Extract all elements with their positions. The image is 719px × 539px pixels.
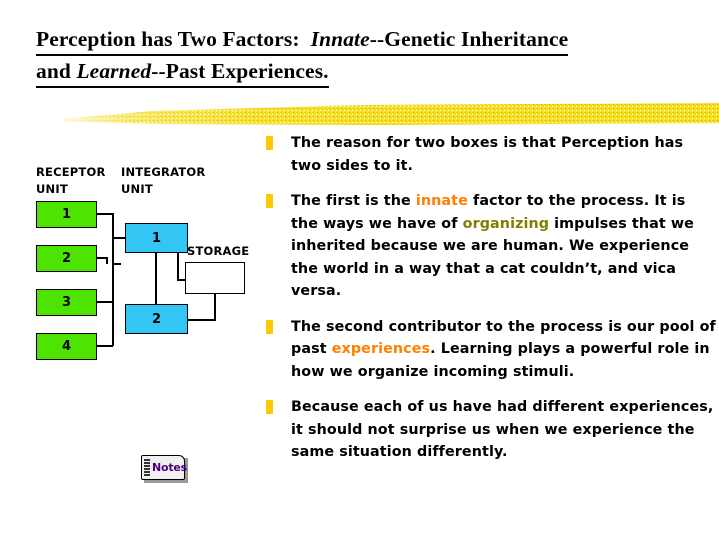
integrator-node-2[interactable]: 2 xyxy=(125,304,188,334)
bullet-text: The second contributor to the process is… xyxy=(291,316,716,384)
page-title: Perception has Two Factors: Innate--Gene… xyxy=(36,26,676,88)
page-title-line-1-prefix: Perception has Two Factors: xyxy=(36,27,311,51)
list-item: The second contributor to the process is… xyxy=(266,316,716,384)
page-title-learned-italic: Learned xyxy=(76,59,151,83)
bullet-text-run: The reason for two boxes is that Percept… xyxy=(291,135,683,174)
slide-canvas: Perception has Two Factors: Innate--Gene… xyxy=(0,0,719,539)
notepad-ring-icon xyxy=(144,465,150,467)
bullet-list: The reason for two boxes is that Percept… xyxy=(266,132,716,477)
bullet-text-run: The first is the xyxy=(291,193,416,209)
page-title-line-2: and Learned--Past Experiences. xyxy=(36,58,329,88)
integrator-node-1[interactable]: 1 xyxy=(125,223,188,253)
notes-button-face: Notes xyxy=(141,455,185,480)
notepad-ring-icon xyxy=(144,462,150,464)
bullet-marker-icon xyxy=(266,320,273,334)
list-item: Because each of us have had different ex… xyxy=(266,396,716,464)
decorative-ribbon xyxy=(62,101,719,127)
page-title-line-1: Perception has Two Factors: Innate--Gene… xyxy=(36,26,568,56)
bullet-marker-icon xyxy=(266,194,273,208)
notepad-ring-icon xyxy=(144,474,150,476)
notepad-ring-icon xyxy=(144,459,150,461)
bullet-marker-icon xyxy=(266,400,273,414)
bullet-text-run: organizing xyxy=(463,216,549,232)
bullet-text: The reason for two boxes is that Percept… xyxy=(291,132,716,177)
list-item: The reason for two boxes is that Percept… xyxy=(266,132,716,177)
bullet-marker-icon xyxy=(266,136,273,150)
receptor-node-4[interactable]: 4 xyxy=(36,333,97,360)
perception-diagram: RECEPTOR UNIT INTEGRATOR UNIT STORAGE xyxy=(0,130,275,390)
notepad-ring-icon xyxy=(144,468,150,470)
page-title-line-1-suffix: --Genetic Inheritance xyxy=(370,27,569,51)
notepad-ring-icon xyxy=(144,471,150,473)
bullet-text-run: innate xyxy=(416,193,468,209)
list-item: The first is the innate factor to the pr… xyxy=(266,190,716,303)
notes-button[interactable]: Notes xyxy=(141,455,185,480)
page-title-line-2-suffix: --Past Experiences. xyxy=(151,59,328,83)
bullet-text-run: Because each of us have had different ex… xyxy=(291,399,713,460)
bullet-text: The first is the innate factor to the pr… xyxy=(291,190,716,303)
receptor-node-1[interactable]: 1 xyxy=(36,201,97,228)
notes-button-label: Notes xyxy=(152,461,187,474)
storage-box[interactable] xyxy=(185,262,245,294)
page-title-line-2-prefix: and xyxy=(36,59,76,83)
receptor-node-3[interactable]: 3 xyxy=(36,289,97,316)
bullet-text: Because each of us have had different ex… xyxy=(291,396,716,464)
page-title-innate-italic: Innate xyxy=(311,27,370,51)
receptor-node-2[interactable]: 2 xyxy=(36,245,97,272)
bullet-text-run: experiences xyxy=(332,341,430,357)
